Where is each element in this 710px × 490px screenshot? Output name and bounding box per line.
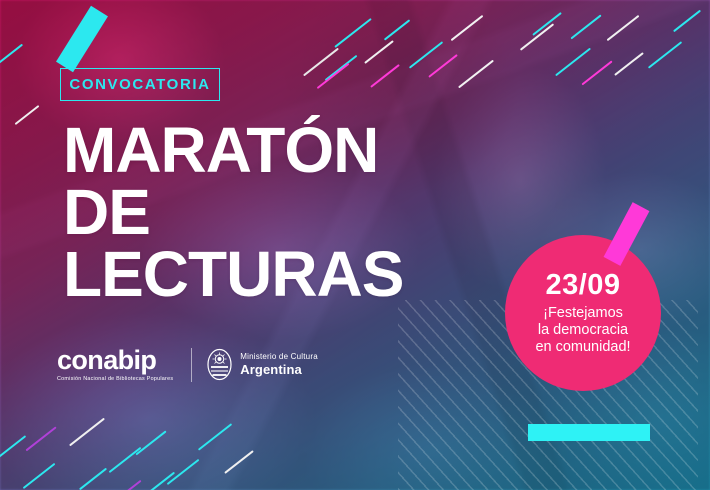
page-title-line-3: LECTURAS [63, 243, 403, 305]
page-title-line-2: DE [63, 181, 403, 243]
page-title-line-1: MARATÓN [63, 119, 403, 181]
conabip-tagline: Comisión Nacional de Bibliotecas Popular… [57, 376, 173, 382]
logo-divider [191, 348, 192, 382]
ministry-text-block: Ministerio de Cultura Argentina [240, 352, 318, 377]
event-date: 23/09 [545, 270, 620, 300]
event-slogan-line-1: ¡Festejamos [543, 305, 623, 322]
ministry-country: Argentina [240, 362, 318, 377]
ministry-name: Ministerio de Cultura [240, 352, 318, 362]
ministry-logo: Ministerio de Cultura Argentina [206, 348, 318, 381]
event-slogan-line-2: la democracia [538, 322, 628, 339]
conabip-logo: conabip Comisión Nacional de Bibliotecas… [57, 347, 173, 382]
date-circle-badge: 23/09 ¡Festejamos la democracia en comun… [505, 235, 661, 391]
convocatoria-badge-label: CONVOCATORIA [69, 76, 210, 93]
cyan-horizontal-bar-bottom-right [528, 424, 650, 441]
argentina-sun-icon [206, 348, 233, 381]
conabip-wordmark: conabip [57, 347, 173, 374]
promotional-poster: CONVOCATORIA MARATÓN DE LECTURAS 23/09 ¡… [0, 0, 710, 490]
convocatoria-badge: CONVOCATORIA [60, 68, 220, 101]
logo-row: conabip Comisión Nacional de Bibliotecas… [57, 347, 318, 382]
event-slogan-line-3: en comunidad! [535, 339, 630, 356]
page-title: MARATÓN DE LECTURAS [63, 119, 403, 305]
